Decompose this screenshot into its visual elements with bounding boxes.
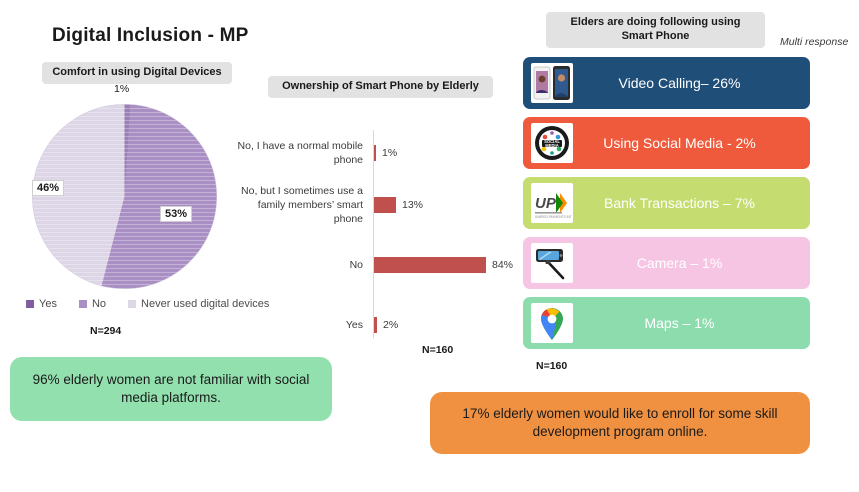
page-title: Digital Inclusion - MP <box>52 25 249 47</box>
legend-swatch-icon <box>79 300 87 308</box>
bar-fill <box>374 317 377 333</box>
bar-track: 84% <box>368 242 518 288</box>
bar-row: No, but I sometimes use a family members… <box>228 182 518 228</box>
callout-skill-development: 17% elderly women would like to enroll f… <box>430 392 810 454</box>
list-item-label: Using Social Media - 2% <box>573 135 810 151</box>
bar-category-label: Yes <box>228 318 368 332</box>
bar-track: 13% <box>368 182 518 228</box>
list-item-bank-transactions[interactable]: UPI UNIFIED PAYMENTS INTERFACE Bank Tran… <box>523 177 810 229</box>
legend-item-yes: Yes <box>26 298 57 310</box>
bar-fill <box>374 257 486 273</box>
legend-item-no: No <box>79 298 106 310</box>
pie-chart: 1% 46% 53% <box>18 100 248 300</box>
bar-chart: No, I have a normal mobile phone 1% No, … <box>228 130 518 345</box>
bar-value-label: 84% <box>492 259 513 271</box>
list-item-camera[interactable]: Camera – 1% <box>523 237 810 289</box>
bar-category-label: No, but I sometimes use a family members… <box>228 184 368 227</box>
pie-label-never: 46% <box>32 180 64 196</box>
bar-track: 2% <box>368 302 518 348</box>
pie-sample-size: N=294 <box>90 325 121 337</box>
pie-graphic <box>32 104 217 289</box>
legend-label: Yes <box>39 298 57 310</box>
social-media-icon: SOCIAL MEDIA <box>531 123 573 163</box>
list-item-label: Maps – 1% <box>573 315 810 331</box>
legend-label: No <box>92 298 106 310</box>
bar-value-label: 2% <box>383 319 398 331</box>
svg-text:MEDIA: MEDIA <box>545 143 559 148</box>
smartphone-usage-list: Video Calling– 26% SOCIAL MEDIA <box>523 57 810 357</box>
pie-label-yes: 1% <box>110 82 133 96</box>
bar-track: 1% <box>368 130 518 176</box>
bar-chart-header: Ownership of Smart Phone by Elderly <box>268 76 493 98</box>
video-call-icon <box>531 63 573 103</box>
list-item-maps[interactable]: Maps – 1% <box>523 297 810 349</box>
list-item-social-media[interactable]: SOCIAL MEDIA Using Social Media - 2% <box>523 117 810 169</box>
bar-category-label: No, I have a normal mobile phone <box>228 139 368 167</box>
list-item-label: Bank Transactions – 7% <box>573 195 810 211</box>
list-item-label: Video Calling– 26% <box>573 75 810 91</box>
selfie-stick-camera-icon <box>531 243 573 283</box>
bar-fill <box>374 145 376 161</box>
bar-row: Yes 2% <box>228 302 518 348</box>
legend-swatch-icon <box>128 300 136 308</box>
bar-row: No, I have a normal mobile phone 1% <box>228 130 518 176</box>
bar-value-label: 1% <box>382 147 397 159</box>
bar-fill <box>374 197 396 213</box>
callout-social-media-familiarity: 96% elderly women are not familiar with … <box>10 357 332 421</box>
svg-text:UNIFIED PAYMENTS INTERFACE: UNIFIED PAYMENTS INTERFACE <box>535 215 572 219</box>
list-item-video-calling[interactable]: Video Calling– 26% <box>523 57 810 109</box>
google-maps-pin-icon <box>531 303 573 343</box>
smartphone-usage-sample-size: N=160 <box>536 360 567 372</box>
list-item-label: Camera – 1% <box>573 255 810 271</box>
upi-icon: UPI UNIFIED PAYMENTS INTERFACE <box>531 183 573 223</box>
bar-row: No 84% <box>228 242 518 288</box>
bar-sample-size: N=160 <box>422 344 453 356</box>
pie-chart-header: Comfort in using Digital Devices <box>42 62 232 84</box>
legend-swatch-icon <box>26 300 34 308</box>
multi-response-note: Multi response <box>780 36 848 48</box>
bar-category-label: No <box>228 258 368 272</box>
pie-label-no: 53% <box>160 206 192 222</box>
slide-canvas: Digital Inclusion - MP Comfort in using … <box>0 0 859 492</box>
smartphone-usage-header: Elders are doing following using Smart P… <box>546 12 765 48</box>
bar-value-label: 13% <box>402 199 423 211</box>
